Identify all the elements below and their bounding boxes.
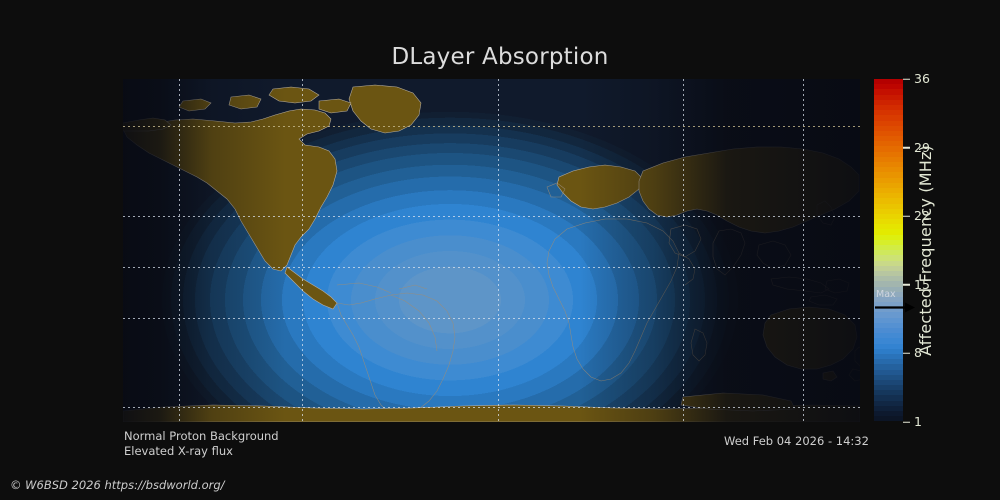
colorbar-axis-title: Affected Frequency (MHz): [913, 79, 937, 422]
page-title: DLayer Absorption: [0, 44, 1000, 70]
colorbar-axis-title-text: Affected Frequency (MHz): [916, 145, 935, 356]
timestamp: Wed Feb 04 2026 - 14:32: [724, 434, 869, 448]
colorbar-tick-dash: [903, 147, 910, 149]
status-block: Normal Proton Background Elevated X-ray …: [124, 429, 279, 459]
colorbar-tick-dash: [903, 215, 910, 217]
status-line-xray: Elevated X-ray flux: [124, 444, 279, 459]
colorbar-tick-dash: [903, 78, 910, 80]
colorbar: [874, 79, 903, 422]
terminator-shading: [123, 79, 860, 422]
world-map[interactable]: [123, 79, 860, 422]
colorbar-tick-dash: [903, 353, 910, 355]
status-line-proton: Normal Proton Background: [124, 429, 279, 444]
colorbar-gradient: [874, 79, 903, 422]
colorbar-tick-dash: [903, 421, 910, 423]
dlayer-absorption-screen: DLayer Absorption: [0, 0, 1000, 500]
credit-footer: © W6BSD 2026 https://bsdworld.org/: [10, 478, 225, 492]
colorbar-tick-dash: [903, 284, 910, 286]
colorbar-band: [874, 416, 903, 421]
